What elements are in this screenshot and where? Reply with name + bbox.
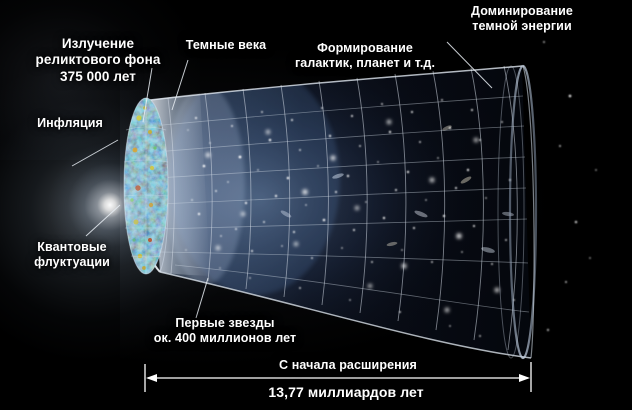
label-dark-ages: Темные века (168, 38, 284, 53)
label-dark-energy: Доминирование темной энергии (434, 4, 610, 35)
axis-arrow-right (519, 374, 530, 382)
label-first-stars: Первые звезды ок. 400 миллионов лет (122, 316, 328, 347)
universe-expansion-figure: Излучение реликтового фона 375 000 лет Т… (0, 0, 632, 410)
axis-arrow-left (146, 374, 157, 382)
label-galaxy-formation: Формирование галактик, планет и т.д. (282, 41, 448, 72)
label-universe-age: 13,77 миллиардов лет (216, 384, 476, 401)
label-quantum-fluctuations: Квантовые флуктуации (10, 240, 134, 271)
label-cmb: Излучение реликтового фона 375 000 лет (18, 36, 178, 85)
label-inflation: Инфляция (12, 116, 128, 131)
label-since-expansion: С начала расширения (248, 358, 448, 373)
